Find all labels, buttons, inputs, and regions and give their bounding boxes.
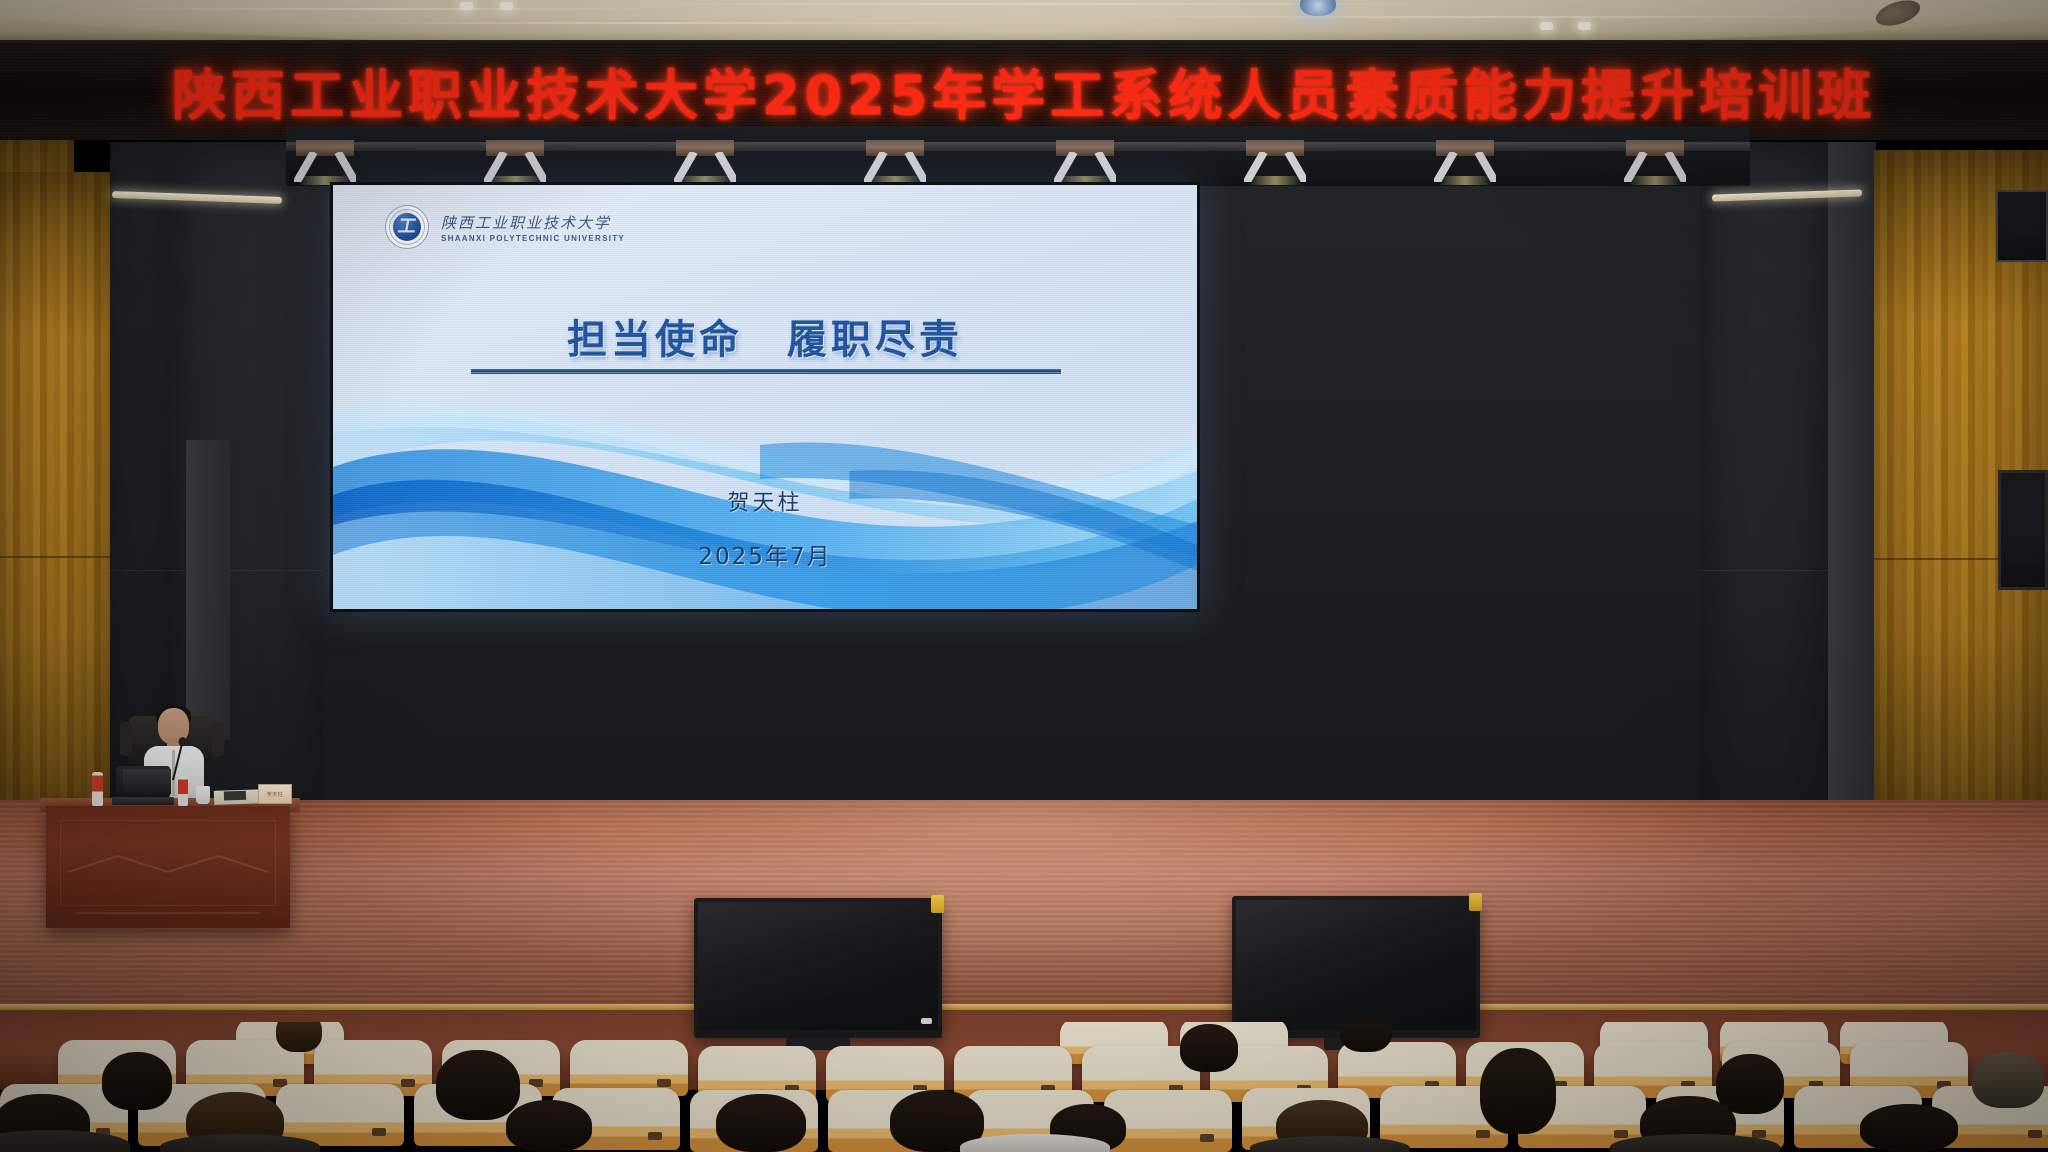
ceiling-downlight-icon — [460, 2, 473, 10]
audience-head — [506, 1100, 592, 1152]
wall-seam — [0, 556, 112, 558]
podium-desk — [46, 806, 290, 928]
left-wall-column — [186, 440, 230, 740]
audience-head — [436, 1050, 520, 1120]
monitor-tag-icon — [931, 895, 944, 913]
ceiling-vent-icon — [1873, 0, 1924, 31]
stage-light-fixture — [1046, 140, 1124, 186]
slide-title-underline — [471, 369, 1061, 374]
ceiling-blue-light-icon — [1300, 0, 1336, 16]
slide-title: 担当使命 履职尽责 — [333, 307, 1197, 365]
stage-light-fixture — [666, 140, 744, 186]
audience-head — [276, 1022, 322, 1052]
stage-floor — [0, 800, 2048, 1015]
ceiling-downlight-icon — [500, 2, 513, 10]
desk-chevron-ornament — [68, 854, 268, 876]
ceiling — [0, 0, 2048, 42]
water-bottle-icon — [178, 776, 188, 806]
stage-monitor-right — [1232, 896, 1480, 1038]
stage-light-fixture — [1616, 140, 1694, 186]
desk-trim-line — [76, 912, 260, 914]
stage-light-fixture — [1236, 140, 1314, 186]
stage-monitor-left — [694, 898, 942, 1038]
stage-light-fixture — [476, 140, 554, 186]
right-dark-acoustic-panel — [1700, 142, 1832, 832]
monitor-tag-icon — [1469, 893, 1482, 911]
presentation-slide: 工 陕西工业职业技术大学 SHAANXI POLYTECHNIC UNIVERS… — [333, 185, 1197, 609]
slide-brand-row: 工 陕西工业职业技术大学 SHAANXI POLYTECHNIC UNIVERS… — [385, 205, 625, 249]
audience-head — [102, 1052, 172, 1110]
stage-light-fixture — [1426, 140, 1504, 186]
right-wall-window — [1996, 190, 2048, 262]
audience-head — [1340, 1022, 1392, 1052]
stage-light-fixture — [856, 140, 934, 186]
audience-seating — [0, 1022, 2048, 1152]
right-wall-column — [1828, 142, 1876, 832]
university-logo-icon: 工 — [385, 205, 429, 249]
presentation-date: 2025年7月 — [333, 537, 1197, 571]
audience-head — [1972, 1052, 2044, 1108]
right-wall-frame — [1998, 470, 2048, 590]
projection-screen: 工 陕西工业职业技术大学 SHAANXI POLYTECHNIC UNIVERS… — [330, 182, 1200, 612]
stage-light-fixture — [286, 140, 364, 186]
auditorium-photo: 陕西工业职业技术大学2025年学工系统人员素质能力提升培训班 — [0, 0, 2048, 1152]
water-bottle-icon — [92, 772, 103, 806]
speaker-nameplate: 贺天柱 — [258, 784, 292, 804]
led-banner-text: 陕西工业职业技术大学2025年学工系统人员素质能力提升培训班 — [172, 51, 1876, 130]
left-wood-wall-2 — [0, 172, 110, 832]
audience-head — [1716, 1054, 1784, 1114]
ceiling-downlight-icon — [1578, 22, 1591, 30]
logo-glyph: 工 — [396, 218, 417, 236]
brand-name-en: SHAANXI POLYTECHNIC UNIVERSITY — [441, 234, 625, 243]
audience-head — [1860, 1104, 1958, 1152]
presenter-name: 贺天柱 — [333, 485, 1197, 517]
audience-head — [716, 1094, 806, 1152]
slide-presenter-block: 贺天柱 2025年7月 — [333, 485, 1197, 571]
audience-head — [1180, 1024, 1238, 1072]
laptop-icon — [112, 766, 174, 806]
nameplate-text: 贺天柱 — [267, 791, 283, 798]
led-banner: 陕西工业职业技术大学2025年学工系统人员素质能力提升培训班 — [0, 42, 2048, 138]
ceiling-downlight-icon — [1540, 22, 1553, 30]
paper-cup-icon — [196, 786, 210, 804]
audience-head — [1480, 1048, 1556, 1134]
brand-name-cn: 陕西工业职业技术大学 — [441, 212, 625, 233]
stage-light-truss — [286, 126, 1750, 186]
